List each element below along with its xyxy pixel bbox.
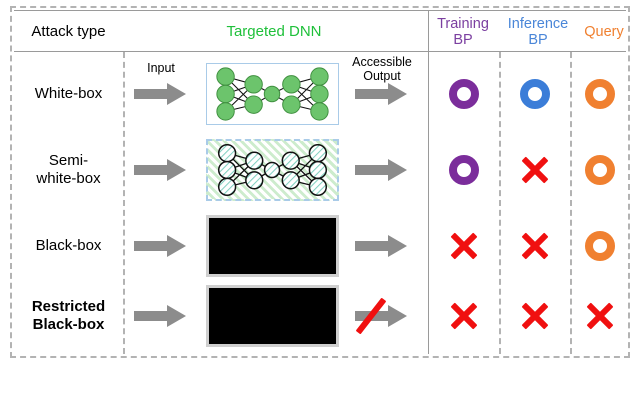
input-arrow-icon [134,159,186,181]
result-inference-bp [500,56,570,132]
result-inference-bp [500,278,570,354]
row-label-line2: white-box [36,170,100,188]
cross-red-icon [520,301,550,331]
result-training-bp [429,278,499,354]
accessible-output-caption: Accessible Output [346,56,418,84]
cross-red-icon [520,155,550,185]
result-inference-bp [500,208,570,284]
header-inference-bp-line1: Inference [508,16,568,32]
row-label-line1: Semi- [36,152,100,170]
model-box-white-network [206,63,339,125]
ring-orange-icon [585,231,615,261]
model-box-black-box [206,215,339,277]
result-query [571,208,629,284]
header-targeted-dnn: Targeted DNN [124,11,424,53]
result-training-bp [429,132,499,208]
result-query [571,56,629,132]
table-row: White-box Input [10,56,630,132]
attack-taxonomy-figure: Attack type Targeted DNN Training BP Inf… [10,6,630,358]
cross-red-icon [449,231,479,261]
header-attack-type: Attack type [16,11,121,53]
result-query [571,278,629,354]
neural-network-diagram [207,64,338,124]
ring-blue-icon [520,79,550,109]
row-label-restricted-black-box: Restricted Black-box [16,278,121,354]
table-row: Semi- white-box [10,132,630,208]
neural-network-diagram [208,141,337,199]
result-training-bp [429,56,499,132]
result-inference-bp [500,132,570,208]
model-box-semi-network [206,139,339,201]
header-query: Query [577,11,631,53]
result-training-bp [429,208,499,284]
model-box-black-box [206,285,339,347]
output-arrow-icon [355,83,407,105]
accessible-output-line2: Output [346,70,418,84]
header-training-bp: Training BP [428,11,498,53]
header-training-bp-line1: Training [437,16,489,32]
accessible-output-line1: Accessible [346,56,418,70]
result-query [571,132,629,208]
row-label-line1: Restricted [32,298,105,316]
row-label-line2: Black-box [32,316,105,334]
header-inference-bp-line2: BP [508,32,568,48]
ring-purple-icon [449,79,479,109]
input-arrow-icon [134,83,186,105]
input-arrow-icon [134,305,186,327]
header-training-bp-line2: BP [437,32,489,48]
row-label-semi-white-box: Semi- white-box [16,132,121,208]
cross-red-icon [520,231,550,261]
input-arrow-icon [134,235,186,257]
table-row: Restricted Black-box [10,278,630,354]
ring-orange-icon [585,79,615,109]
output-arrow-icon [355,159,407,181]
ring-purple-icon [449,155,479,185]
ring-orange-icon [585,155,615,185]
header-inference-bp: Inference BP [501,11,575,53]
header-column-divider [428,10,429,52]
row-label-white-box: White-box [16,56,121,132]
cross-red-icon [585,301,615,331]
output-arrow-icon [355,235,407,257]
table-header-row: Attack type Targeted DNN Training BP Inf… [14,10,626,52]
table-row: Black-box [10,208,630,284]
row-label-black-box: Black-box [16,208,121,284]
cross-red-icon [449,301,479,331]
input-caption: Input [132,62,190,76]
